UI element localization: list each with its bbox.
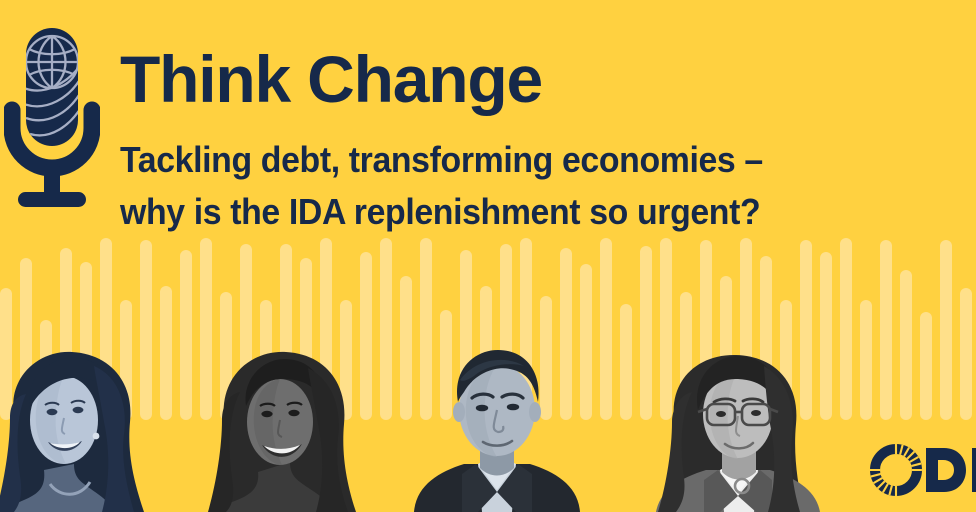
episode-subtitle-line-2: why is the IDA replenishment so urgent? — [120, 186, 891, 238]
waveform-bar — [880, 240, 892, 420]
waveform-bar — [900, 270, 912, 420]
waveform-bar — [960, 288, 972, 420]
page-title: Think Change — [120, 46, 940, 112]
waveform-bar — [620, 304, 632, 420]
guest-photo-1 — [0, 342, 154, 512]
waveform-bar — [840, 238, 852, 420]
episode-text-block: Think Change Tackling debt, transforming… — [120, 46, 940, 238]
globe-microphone-icon — [4, 22, 100, 212]
guest-photo-4 — [648, 344, 828, 512]
waveform-bar — [860, 300, 872, 420]
podcast-cover-artwork: Think Change Tackling debt, transforming… — [0, 0, 976, 512]
guest-photo-2 — [206, 342, 364, 512]
odi-logo — [866, 440, 976, 500]
waveform-bar — [920, 312, 932, 420]
episode-subtitle-line-1: Tackling debt, transforming economies – — [120, 134, 891, 186]
waveform-bar — [180, 250, 192, 420]
waveform-bar — [380, 238, 392, 420]
waveform-bar — [940, 240, 952, 420]
guest-photo-3 — [404, 340, 590, 512]
waveform-bar — [160, 286, 172, 420]
waveform-bar — [600, 238, 612, 420]
